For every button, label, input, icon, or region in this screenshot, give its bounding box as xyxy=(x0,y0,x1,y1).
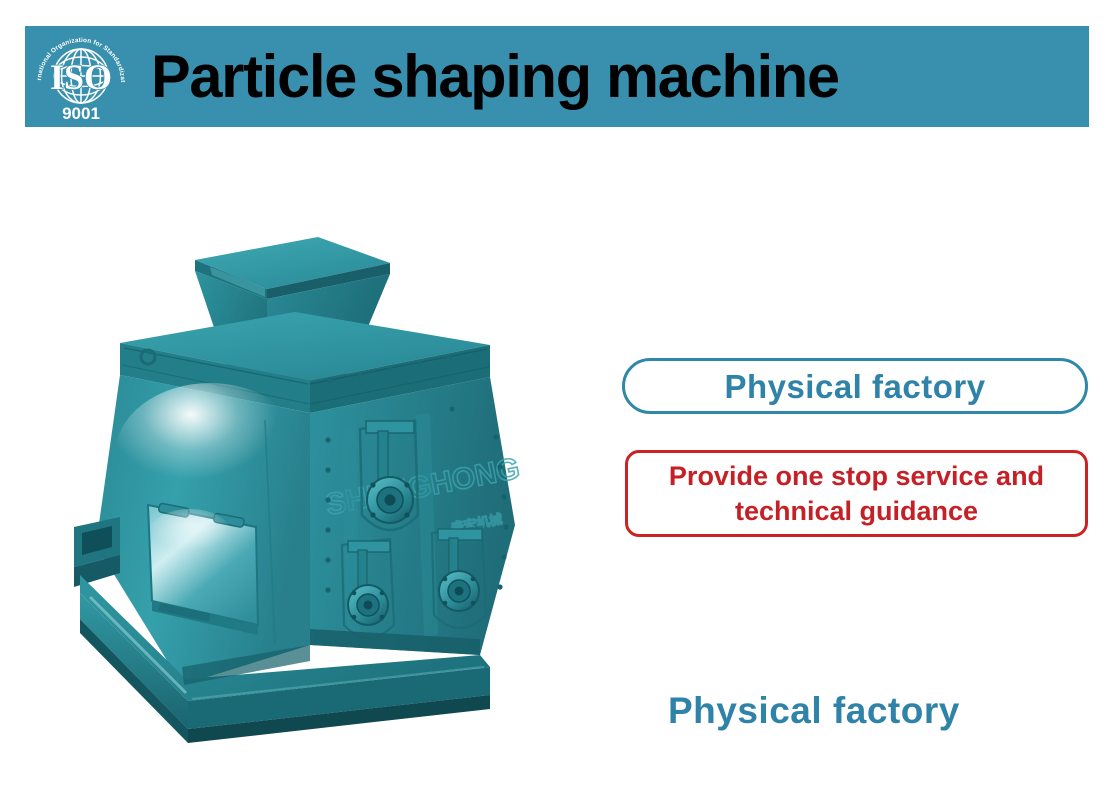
page-title: Particle shaping machine xyxy=(151,47,1080,107)
service-guidance-line-1: Provide one stop service and xyxy=(669,459,1044,494)
physical-factory-pill-callout: Physical factory xyxy=(622,358,1088,414)
service-guidance-callout: Provide one stop service and technical g… xyxy=(625,450,1088,537)
svg-text:9001: 9001 xyxy=(62,104,100,123)
pill-label: Physical factory xyxy=(724,370,985,403)
footer-physical-factory-label: Physical factory xyxy=(668,692,1048,729)
svg-text:ISO: ISO xyxy=(50,57,112,97)
particle-shaping-machine-photo: SHENGHONG 盛宏机械 xyxy=(60,215,540,755)
page-header-banner: International Organization for Standardi… xyxy=(25,26,1089,127)
iso-certification-globe-icon: International Organization for Standardi… xyxy=(25,26,137,127)
machine-body-right-face: SHENGHONG 盛宏机械 xyxy=(310,377,522,655)
service-guidance-line-2: technical guidance xyxy=(735,494,978,529)
